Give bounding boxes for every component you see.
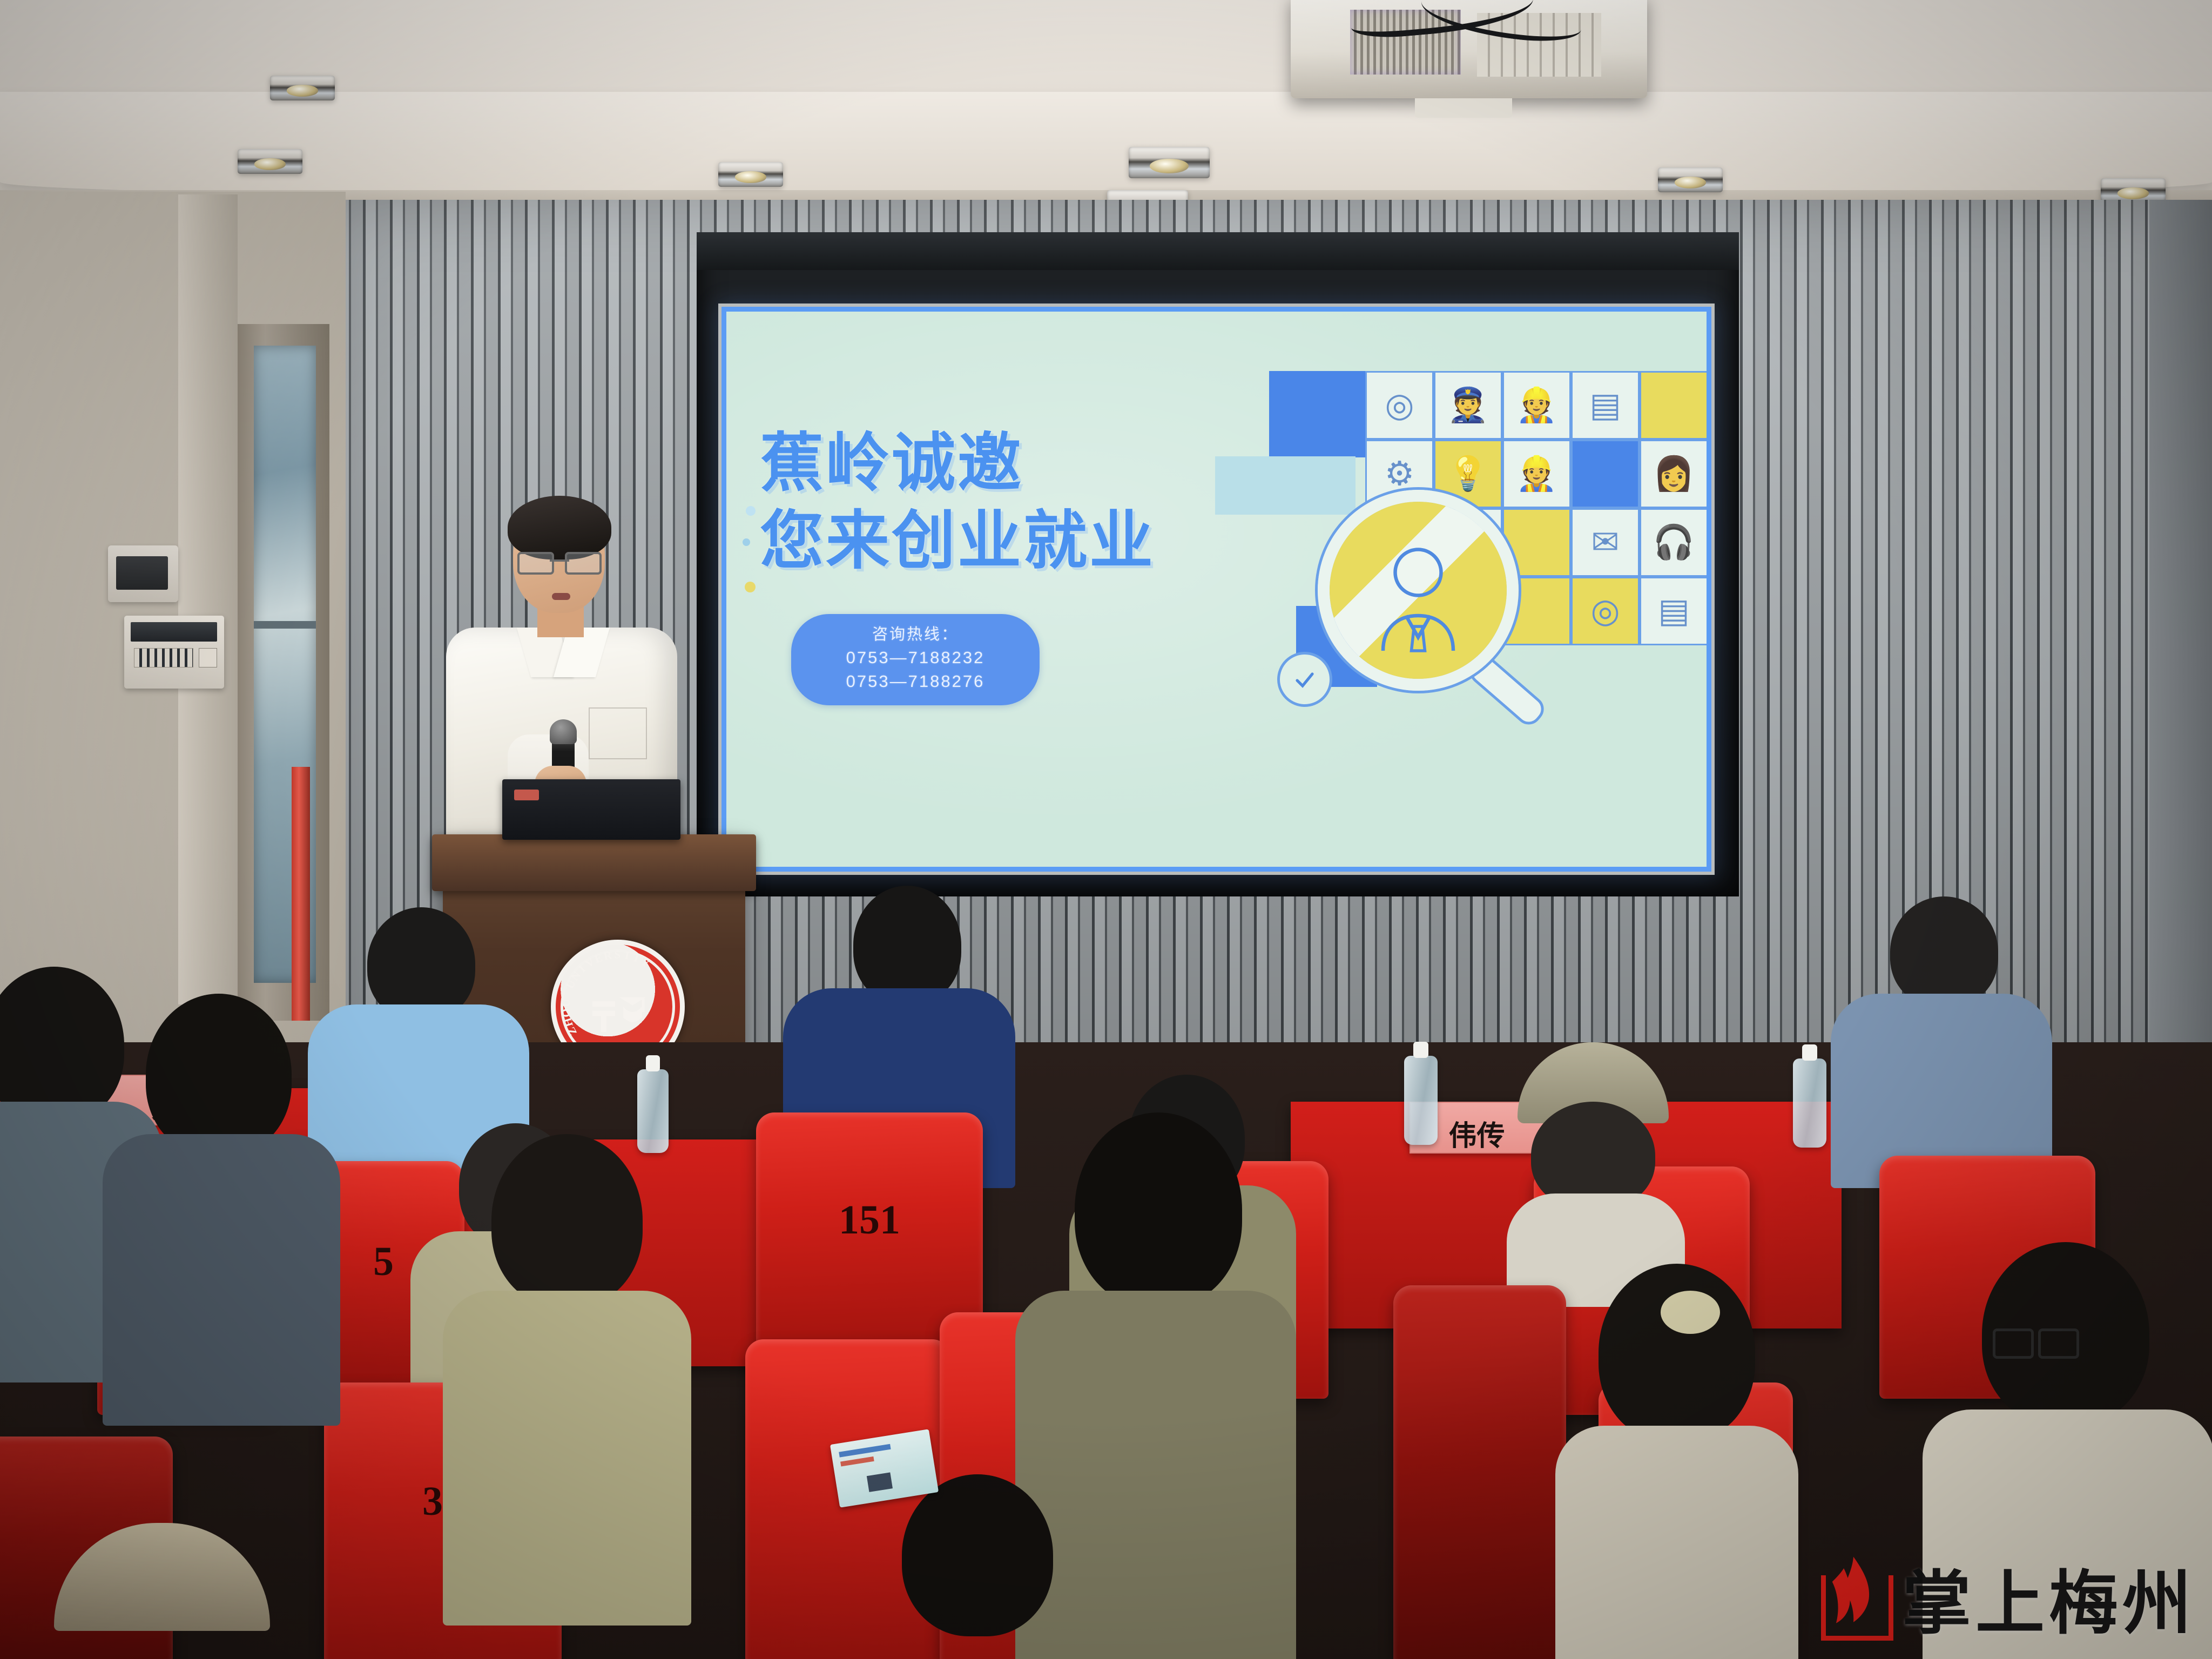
document-lines-icon-glyph: ▤ <box>1658 595 1690 628</box>
placard-name: 伟传 <box>1448 1122 1505 1152</box>
ceiling-downlight-icon <box>718 162 783 187</box>
hair-tie-icon <box>1661 1291 1720 1334</box>
emblem-letter: S <box>614 948 621 961</box>
headset-agent-icon: 🎧 <box>1640 508 1708 577</box>
breaker-switches[interactable] <box>134 648 193 667</box>
magnifier-icon <box>1318 490 1550 722</box>
watermark-logo-icon <box>1817 1557 1888 1638</box>
target-icon-glyph: ◎ <box>1590 595 1620 628</box>
baseball-cap-icon <box>54 1523 270 1631</box>
audience-person-with-cap <box>54 1523 281 1659</box>
ceiling-downlight-icon <box>270 76 335 100</box>
audience-person <box>130 994 313 1415</box>
breaker-knob[interactable] <box>199 648 217 667</box>
seat-number: 5 <box>373 1238 394 1285</box>
door-mullion <box>254 621 316 629</box>
person-in-suit-icon <box>1351 527 1486 662</box>
slide-title-line-1: 蕉岭诚邀 <box>760 425 1170 503</box>
envelope-icon: ✉ <box>1571 508 1640 577</box>
ac-panel-screen <box>116 556 168 590</box>
slide-dot-decor <box>743 538 750 546</box>
target-icon: ◎ <box>1365 371 1434 440</box>
ceiling-soffit <box>0 92 2212 200</box>
laptop-logo-icon <box>514 790 539 800</box>
audience-person <box>443 1134 691 1620</box>
lectern-top <box>432 834 756 891</box>
audience-person-with-cap <box>1507 1042 1685 1301</box>
document-lines-icon: ▤ <box>1571 371 1640 440</box>
audience-person <box>1550 1264 1798 1659</box>
blank-cell <box>1571 440 1640 508</box>
worker-female-icon: 👩 <box>1640 440 1708 508</box>
emblem-letter: I <box>624 948 631 962</box>
watermark-text: 掌上梅州 <box>1902 1547 2196 1647</box>
slide-dot-decor <box>745 582 756 592</box>
engineer-icon-glyph: 👷 <box>1516 457 1557 491</box>
lecture-hall-photo: 蕉岭诚邀 您来创业就业 咨询热线： 0753—7188232 0753—7188… <box>0 0 2212 1659</box>
presenter-shirt-pocket <box>589 707 647 759</box>
police-officer-icon-glyph: 👮 <box>1447 389 1489 422</box>
seat-number: 151 <box>839 1197 900 1244</box>
document-lines-icon-glyph: ▤ <box>1589 389 1621 422</box>
document-lines-icon: ▤ <box>1640 577 1708 645</box>
eyeglasses-icon <box>517 552 602 570</box>
hotline-label: 咨询热线： <box>791 624 1040 646</box>
magnifier-ring-icon <box>1318 490 1519 691</box>
emblem-letter: U <box>559 998 573 1008</box>
emblem-letter: R <box>603 948 614 963</box>
emblem-letter: O <box>559 1007 574 1018</box>
watermark: 掌上梅州 <box>1817 1547 2196 1647</box>
checkmark-icon <box>1277 652 1332 707</box>
ceiling-downlight-icon <box>238 149 302 174</box>
laptop[interactable] <box>502 779 680 840</box>
water-bottle <box>1793 1058 1826 1148</box>
headset-agent-icon-glyph: 🎧 <box>1653 526 1695 559</box>
police-officer-icon: 👮 <box>1434 371 1502 440</box>
projector-mount <box>1415 98 1512 118</box>
eyeglasses-icon <box>1993 1328 2079 1357</box>
envelope-icon-glyph: ✉ <box>1591 526 1620 559</box>
ceiling-downlight-icon <box>1129 147 1210 178</box>
screen-valance <box>697 232 1739 270</box>
target-icon: ◎ <box>1571 577 1640 645</box>
lightbulb-icon-glyph: 💡 <box>1447 457 1489 491</box>
blank-cell <box>1640 371 1708 440</box>
worker-helmet-icon: 👷 <box>1502 371 1571 440</box>
left-wall-column <box>178 194 238 1004</box>
hotline-number-1: 0753—7188232 <box>791 646 1040 670</box>
breaker-cover <box>131 622 217 642</box>
presenter-mouth <box>552 593 570 600</box>
worker-helmet-icon-glyph: 👷 <box>1516 389 1557 422</box>
hotline-number-2: 0753—7188276 <box>791 670 1040 693</box>
slide-title-block: 蕉岭诚邀 您来创业就业 <box>760 425 1170 581</box>
worker-female-icon-glyph: 👩 <box>1653 457 1695 491</box>
projection-screen: 蕉岭诚邀 您来创业就业 咨询热线： 0753—7188232 0753—7188… <box>718 304 1715 875</box>
water-bottle <box>1404 1056 1438 1145</box>
target-icon-glyph: ◎ <box>1385 389 1414 422</box>
audience-person <box>1825 896 2052 1188</box>
microphone-head-icon <box>550 719 577 744</box>
gear-icon-glyph: ⚙ <box>1385 457 1415 491</box>
projector-cables <box>1339 0 1620 49</box>
presentation-slide: 蕉岭诚邀 您来创业就业 咨询热线： 0753—7188232 0753—7188… <box>721 307 1711 872</box>
slide-dot-decor <box>746 506 756 516</box>
slide-accent-block-blue <box>1269 371 1365 457</box>
presenter-hair <box>508 496 611 559</box>
ceiling-downlight-icon <box>1658 167 1723 192</box>
emblem-graduation-cap-icon <box>584 973 651 1040</box>
slide-hotline-badge: 咨询热线： 0753—7188232 0753—7188276 <box>791 614 1040 705</box>
slide-title-line-2: 您来创业就业 <box>760 503 1170 581</box>
auditorium-seat <box>1393 1285 1566 1659</box>
